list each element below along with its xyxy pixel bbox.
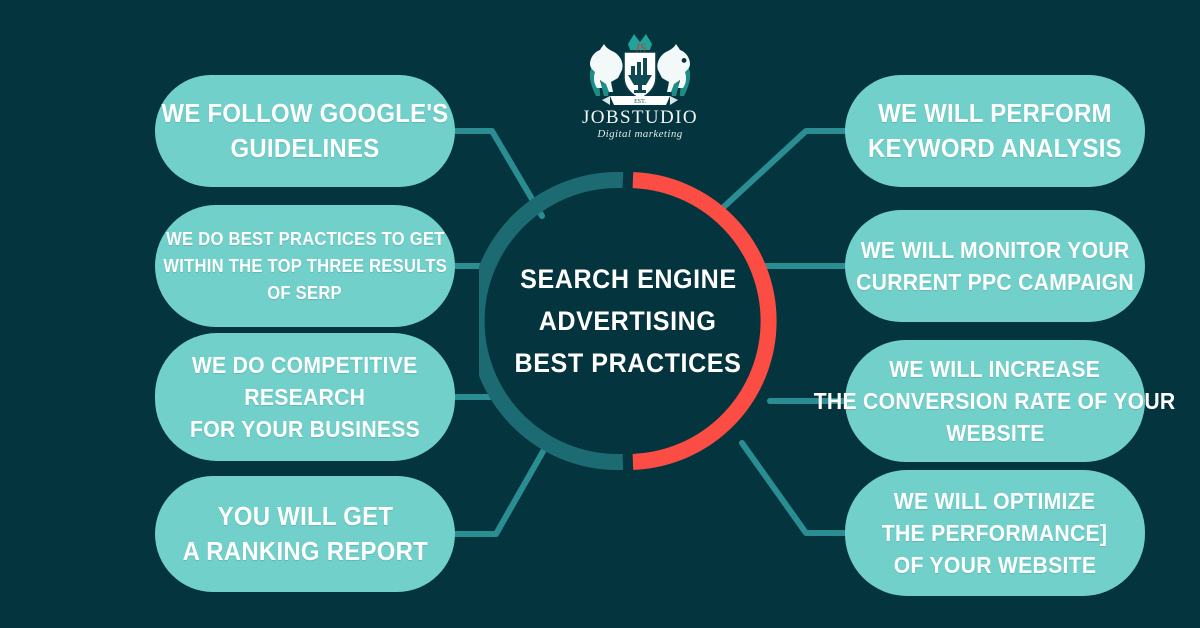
center-node[interactable]: SEARCH ENGINE ADVERTISING BEST PRACTICES	[479, 172, 777, 470]
node-line: WE WILL MONITOR YOUR	[861, 234, 1130, 266]
node-line: WITHIN THE TOP THREE RESULTS	[163, 253, 447, 280]
node-follow-google-guidelines[interactable]: WE FOLLOW GOOGLE'S GUIDELINES	[155, 75, 455, 187]
crest-icon: JS	[566, 22, 714, 110]
node-line: OF YOUR WEBSITE	[894, 549, 1096, 581]
node-increase-conversion-rate[interactable]: WE WILL INCREASE THE CONVERSION RATE OF …	[845, 340, 1145, 462]
node-line: GUIDELINES	[231, 131, 380, 166]
node-line: WE DO COMPETITIVE	[192, 349, 418, 381]
brand-logo: JS	[566, 22, 714, 148]
node-line: THE CONVERSION RATE OF YOUR	[814, 385, 1176, 417]
node-line: FOR YOUR BUSINESS	[190, 413, 420, 445]
svg-text:EST.: EST.	[634, 99, 646, 105]
node-line: WE DO BEST PRACTICES TO GET	[166, 226, 445, 253]
node-line: RESEARCH	[245, 381, 366, 413]
node-line: A RANKING REPORT	[182, 534, 427, 569]
node-keyword-analysis[interactable]: WE WILL PERFORM KEYWORD ANALYSIS	[845, 75, 1145, 187]
node-optimize-website-performance[interactable]: WE WILL OPTIMIZE THE PERFORMANCE] OF YOU…	[845, 470, 1145, 596]
node-line: WE WILL PERFORM	[878, 96, 1112, 131]
node-line: WE FOLLOW GOOGLE'S	[161, 96, 448, 131]
node-line: KEYWORD ANALYSIS	[868, 131, 1122, 166]
infographic-canvas: JS	[0, 0, 1200, 628]
node-line: THE PERFORMANCE]	[882, 517, 1107, 549]
node-line: WE WILL OPTIMIZE	[894, 485, 1096, 517]
node-ranking-report[interactable]: YOU WILL GET A RANKING REPORT	[155, 476, 455, 592]
node-monitor-ppc-campaign[interactable]: WE WILL MONITOR YOUR CURRENT PPC CAMPAIG…	[845, 210, 1145, 322]
node-line: WEBSITE	[946, 417, 1044, 449]
brand-tagline: Digital marketing	[566, 128, 714, 141]
node-line: YOU WILL GET	[217, 499, 393, 534]
node-line: CURRENT PPC CAMPAIGN	[856, 266, 1134, 298]
node-competitive-research[interactable]: WE DO COMPETITIVE RESEARCH FOR YOUR BUSI…	[155, 333, 455, 461]
node-line: WE WILL INCREASE	[890, 353, 1101, 385]
center-title-line: BEST PRACTICES	[515, 349, 742, 377]
node-best-practices-top-three-serp[interactable]: WE DO BEST PRACTICES TO GET WITHIN THE T…	[155, 205, 455, 327]
center-title-line: ADVERTISING	[539, 307, 717, 335]
center-title: SEARCH ENGINE ADVERTISING BEST PRACTICES	[507, 222, 749, 420]
center-title-line: SEARCH ENGINE	[520, 265, 737, 293]
node-line: OF SERP	[268, 280, 343, 307]
brand-name: JOBSTUDIO	[566, 108, 714, 128]
